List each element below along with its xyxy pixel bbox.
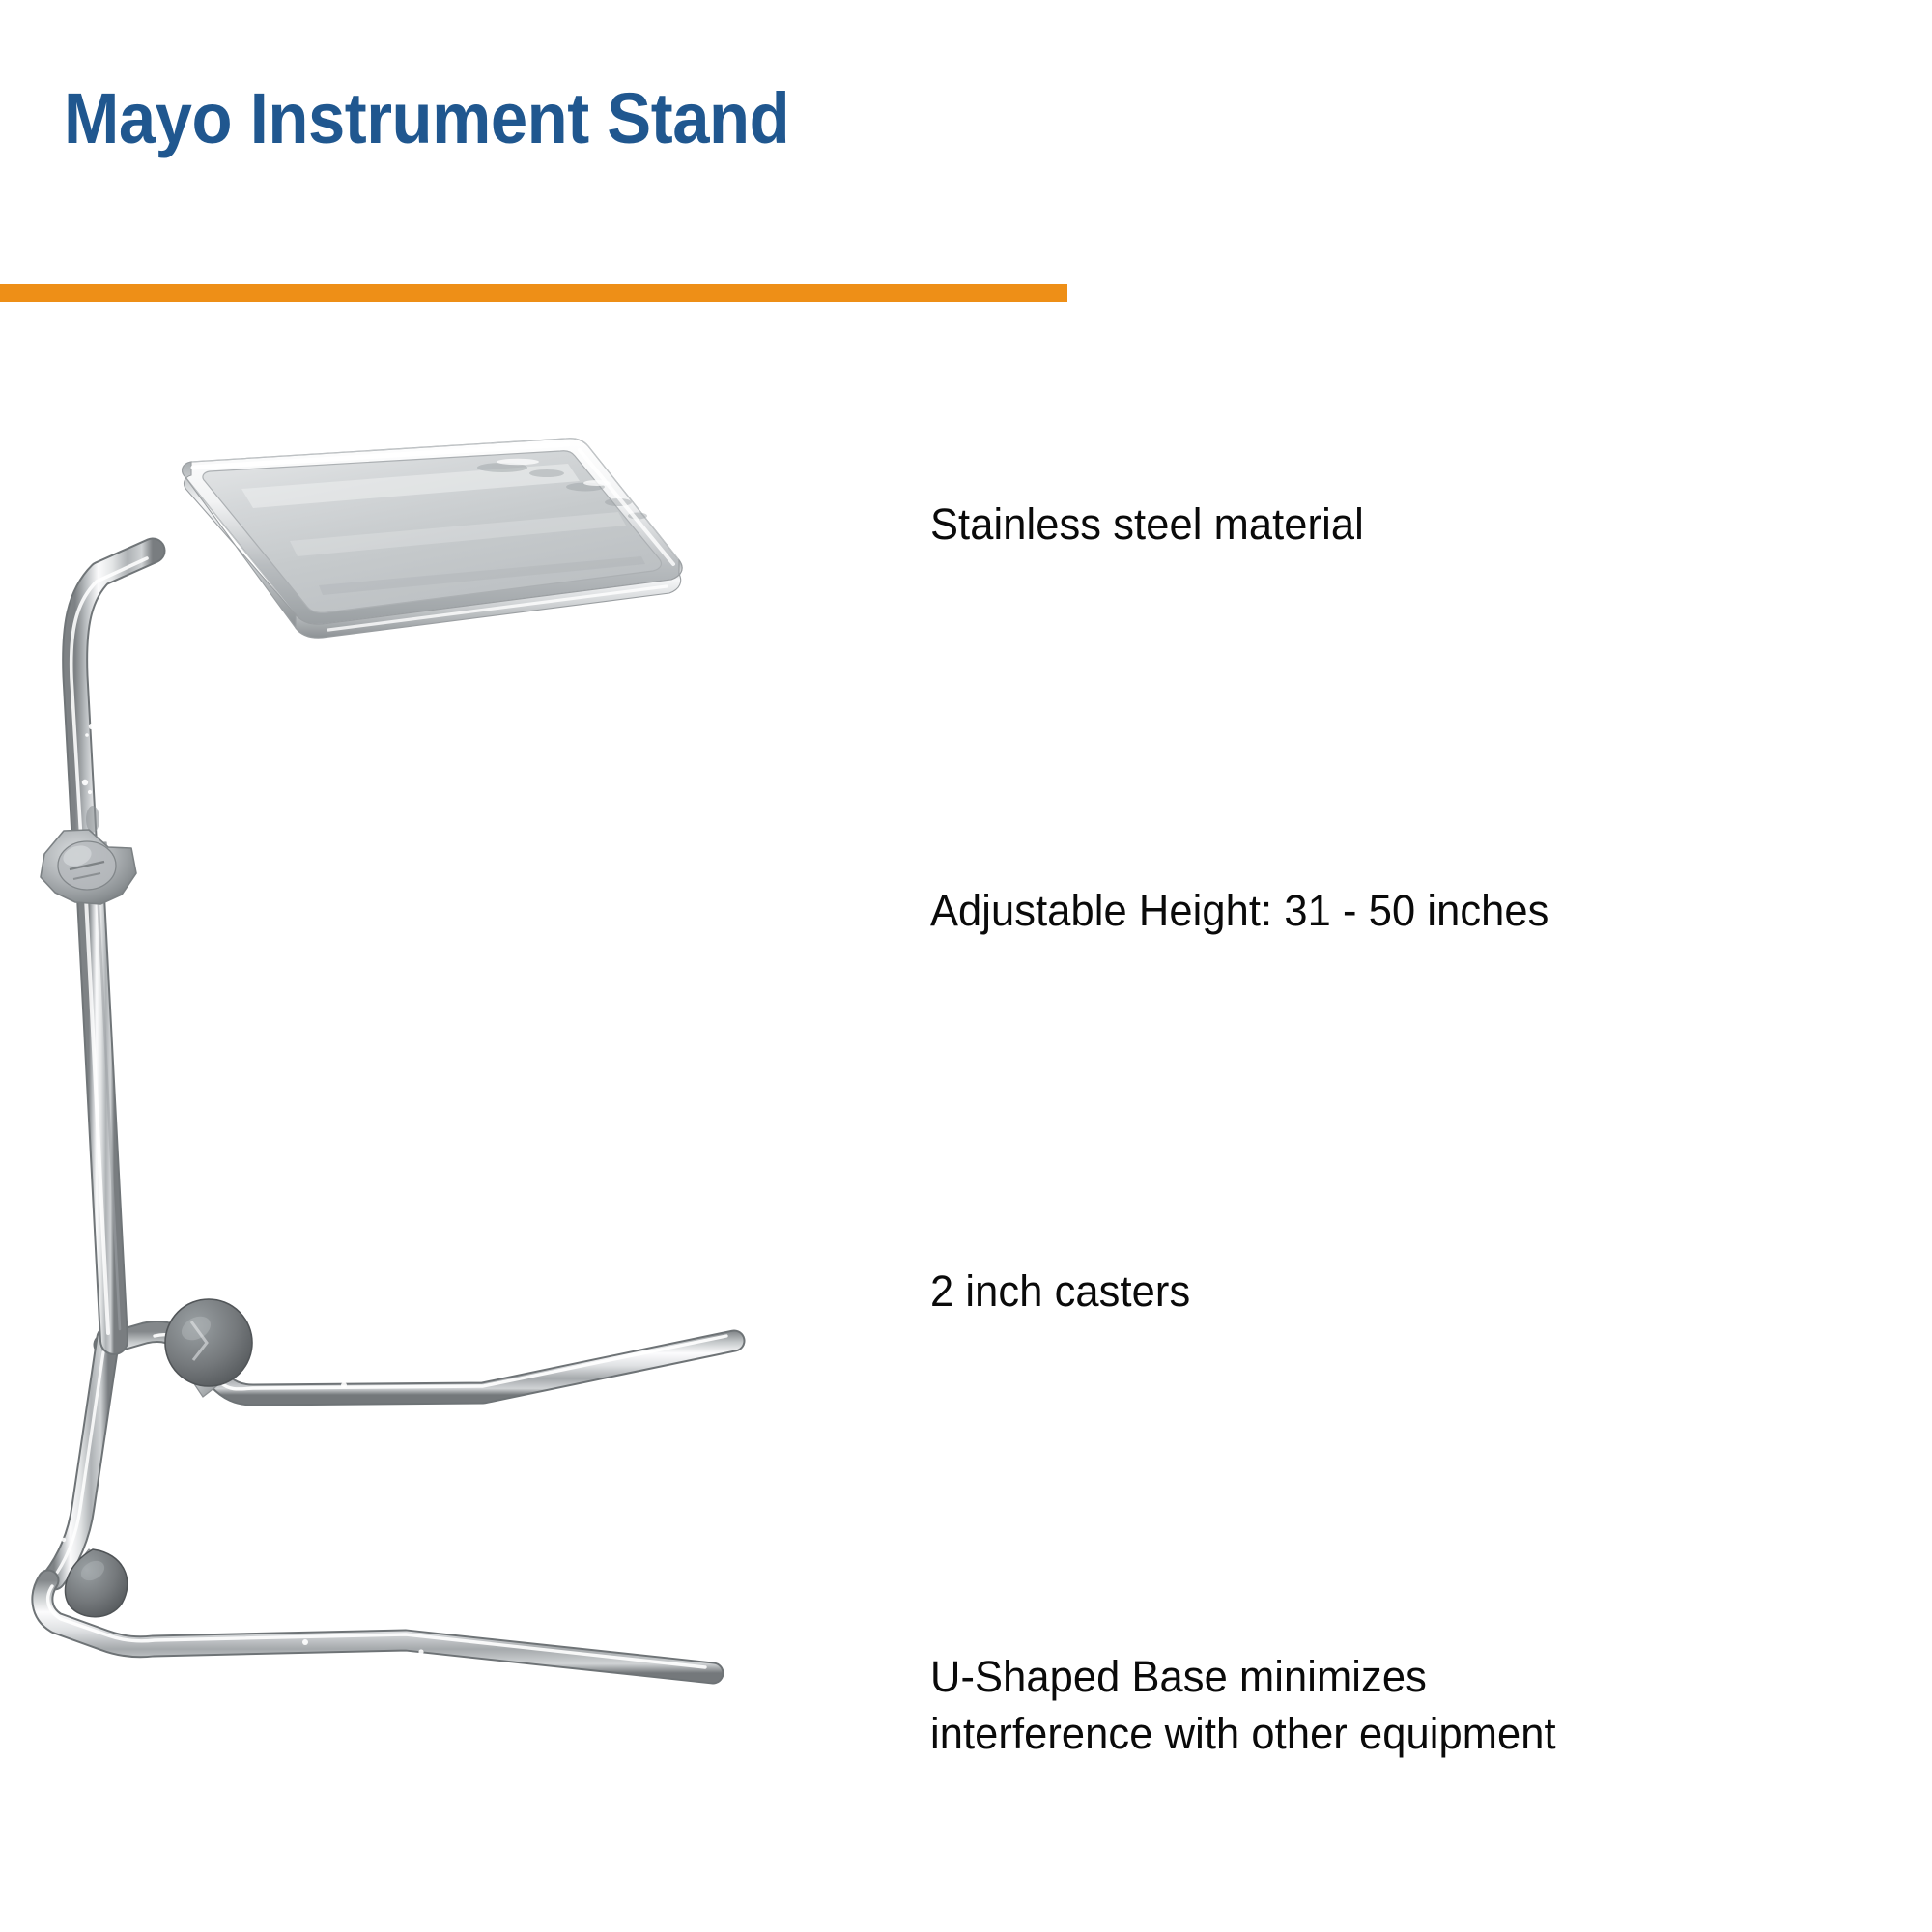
height-adjustment-knob[interactable] <box>41 830 136 904</box>
page-title: Mayo Instrument Stand <box>64 83 789 155</box>
feature-item-height: Adjustable Height: 31 - 50 inches <box>930 882 1548 939</box>
u-shaped-base <box>43 1332 734 1674</box>
feature-item-casters: 2 inch casters <box>930 1263 1190 1320</box>
instrument-tray <box>183 439 682 638</box>
upright-post <box>71 551 153 1341</box>
feature-item-base: U-Shaped Base minimizes interference wit… <box>930 1648 1620 1763</box>
title-underline-rule <box>0 284 1067 302</box>
feature-item-material: Stainless steel material <box>930 496 1364 553</box>
feature-list: Stainless steel material Adjustable Heig… <box>930 0 1906 1932</box>
product-image-mayo-instrument-stand <box>0 367 869 1816</box>
